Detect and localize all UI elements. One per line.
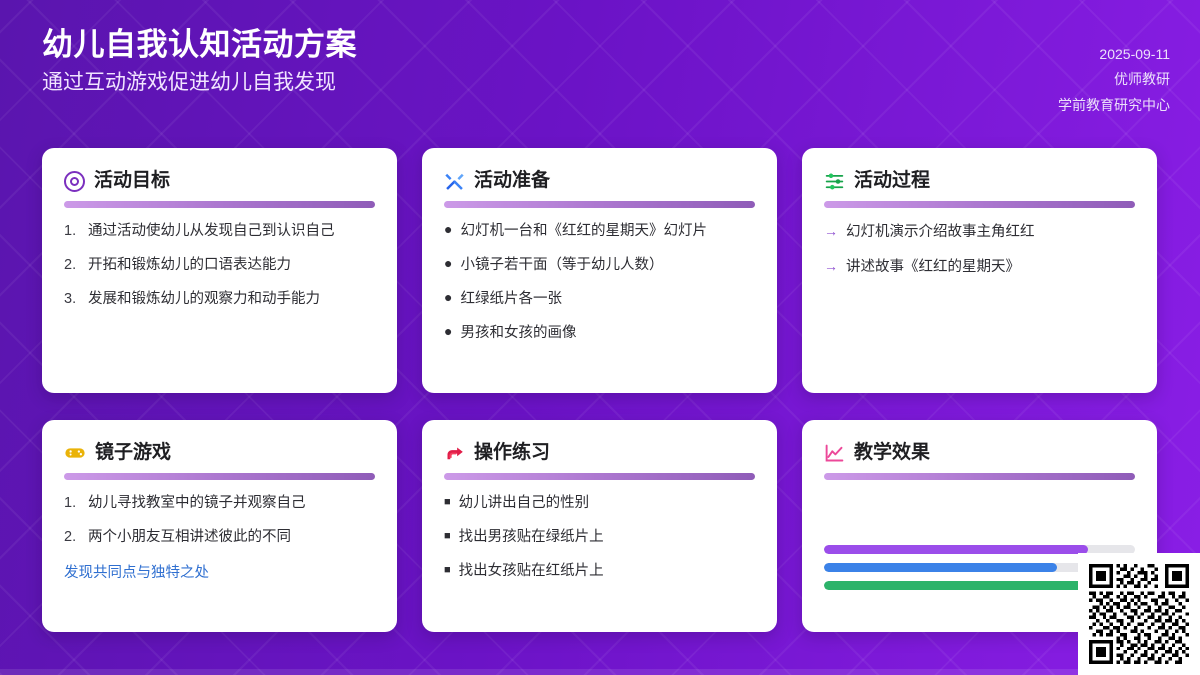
card-title: 教学效果 <box>854 442 930 465</box>
list-item-text: 发展和锻炼幼儿的观察力和动手能力 <box>88 289 375 310</box>
list-marker: ● <box>444 256 452 270</box>
header-meta-block: 2025-09-11 优师教研 学前教育研究中心 <box>1058 26 1170 115</box>
qr-code[interactable] <box>1078 553 1200 675</box>
card-divider <box>444 201 755 208</box>
list-item: 3.发展和锻炼幼儿的观察力和动手能力 <box>64 289 375 310</box>
card-title: 活动准备 <box>474 170 550 193</box>
card-divider <box>824 201 1135 208</box>
pointing-hand-icon <box>444 443 465 464</box>
list-marker: ■ <box>444 531 451 542</box>
list-item-text: 讲述故事《红红的星期天》 <box>846 257 1135 278</box>
card-title: 操作练习 <box>474 442 550 465</box>
card-title: 活动目标 <box>94 170 170 193</box>
list-item-text: 找出女孩贴在红纸片上 <box>459 561 755 582</box>
card-title: 镜子游戏 <box>95 442 171 465</box>
header-date: 2025-09-11 <box>1058 44 1170 64</box>
sliders-icon <box>824 171 845 192</box>
progress-fill <box>824 581 1104 590</box>
card-header: 镜子游戏 <box>64 442 375 465</box>
list-marker-arrow-icon: → <box>824 256 838 276</box>
card-header: 活动过程 <box>824 170 1135 193</box>
list-item-text: 找出男孩贴在绿纸片上 <box>459 527 755 548</box>
process-list: →幻灯机演示介绍故事主角红红 →讲述故事《红红的星期天》 <box>824 221 1135 278</box>
list-item: ■找出男孩贴在绿纸片上 <box>444 527 755 548</box>
tools-icon <box>444 171 465 192</box>
card-activity-process: 活动过程 →幻灯机演示介绍故事主角红红 →讲述故事《红红的星期天》 <box>802 148 1157 393</box>
header-organization: 优师教研 <box>1058 69 1170 89</box>
page-subtitle: 通过互动游戏促进幼儿自我发现 <box>42 69 357 96</box>
list-marker: ■ <box>444 565 451 576</box>
card-divider <box>64 473 375 480</box>
target-icon <box>64 171 85 192</box>
card-activity-preparation: 活动准备 ●幻灯机一台和《红红的星期天》幻灯片 ●小镜子若干面（等于幼儿人数） … <box>422 148 777 393</box>
qr-code-image <box>1089 564 1189 664</box>
list-item: ■幼儿讲出自己的性别 <box>444 493 755 514</box>
mirror-game-link[interactable]: 发现共同点与独特之处 <box>64 561 375 582</box>
list-item: ●红绿纸片各一张 <box>444 289 755 310</box>
card-header: 活动目标 <box>64 170 375 193</box>
preparation-list: ●幻灯机一台和《红红的星期天》幻灯片 ●小镜子若干面（等于幼儿人数） ●红绿纸片… <box>444 221 755 344</box>
list-marker: 2. <box>64 527 80 548</box>
card-divider <box>64 201 375 208</box>
list-item-text: 小镜子若干面（等于幼儿人数） <box>460 255 755 276</box>
list-item: ●小镜子若干面（等于幼儿人数） <box>444 255 755 276</box>
list-marker-arrow-icon: → <box>824 221 838 241</box>
list-marker: ● <box>444 324 452 338</box>
progress-fill <box>824 545 1088 554</box>
list-item: 2.两个小朋友互相讲述彼此的不同 <box>64 527 375 548</box>
list-item-text: 幻灯机演示介绍故事主角红红 <box>846 222 1135 243</box>
card-header: 教学效果 <box>824 442 1135 465</box>
list-marker: 1. <box>64 493 80 514</box>
list-item-text: 红绿纸片各一张 <box>460 289 755 310</box>
list-item: 1.通过活动使幼儿从发现自己到认识自己 <box>64 221 375 242</box>
gamepad-icon <box>64 442 86 464</box>
list-item-text: 幼儿讲出自己的性别 <box>459 493 755 514</box>
header-text-block: 幼儿自我认知活动方案 通过互动游戏促进幼儿自我发现 <box>42 26 357 96</box>
card-title: 活动过程 <box>854 170 930 193</box>
list-item-text: 男孩和女孩的画像 <box>460 323 755 344</box>
list-item-text: 两个小朋友互相讲述彼此的不同 <box>88 527 375 548</box>
page-title: 幼儿自我认知活动方案 <box>42 26 357 65</box>
list-item: →幻灯机演示介绍故事主角红红 <box>824 221 1135 243</box>
card-divider <box>444 473 755 480</box>
card-header: 操作练习 <box>444 442 755 465</box>
list-item: ●幻灯机一台和《红红的星期天》幻灯片 <box>444 221 755 242</box>
list-item-text: 通过活动使幼儿从发现自己到认识自己 <box>88 221 375 242</box>
cards-grid: 活动目标 1.通过活动使幼儿从发现自己到认识自己 2.开拓和锻炼幼儿的口语表达能… <box>42 148 1158 632</box>
card-activity-goals: 活动目标 1.通过活动使幼儿从发现自己到认识自己 2.开拓和锻炼幼儿的口语表达能… <box>42 148 397 393</box>
progress-fill <box>824 563 1057 572</box>
list-marker: ■ <box>444 497 451 508</box>
header-department: 学前教育研究中心 <box>1058 95 1170 115</box>
chart-increasing-icon <box>824 443 845 464</box>
list-item: 2.开拓和锻炼幼儿的口语表达能力 <box>64 255 375 276</box>
list-marker: 1. <box>64 221 80 242</box>
card-divider <box>824 473 1135 480</box>
mirror-game-list: 1.幼儿寻找教室中的镜子并观察自己 2.两个小朋友互相讲述彼此的不同 <box>64 493 375 548</box>
list-item-text: 幼儿寻找教室中的镜子并观察自己 <box>88 493 375 514</box>
list-marker: 2. <box>64 255 80 276</box>
card-mirror-game: 镜子游戏 1.幼儿寻找教室中的镜子并观察自己 2.两个小朋友互相讲述彼此的不同 … <box>42 420 397 632</box>
list-item: ●男孩和女孩的画像 <box>444 323 755 344</box>
list-item-text: 开拓和锻炼幼儿的口语表达能力 <box>88 255 375 276</box>
slide-header: 幼儿自我认知活动方案 通过互动游戏促进幼儿自我发现 2025-09-11 优师教… <box>0 0 1200 130</box>
list-marker: ● <box>444 222 452 236</box>
list-item: →讲述故事《红红的星期天》 <box>824 256 1135 278</box>
list-item: ■找出女孩贴在红纸片上 <box>444 561 755 582</box>
card-header: 活动准备 <box>444 170 755 193</box>
goals-list: 1.通过活动使幼儿从发现自己到认识自己 2.开拓和锻炼幼儿的口语表达能力 3.发… <box>64 221 375 310</box>
list-item-text: 幻灯机一台和《红红的星期天》幻灯片 <box>460 221 755 242</box>
list-item: 1.幼儿寻找教室中的镜子并观察自己 <box>64 493 375 514</box>
list-marker: 3. <box>64 289 80 310</box>
practice-list: ■幼儿讲出自己的性别 ■找出男孩贴在绿纸片上 ■找出女孩贴在红纸片上 <box>444 493 755 582</box>
card-hands-on-practice: 操作练习 ■幼儿讲出自己的性别 ■找出男孩贴在绿纸片上 ■找出女孩贴在红纸片上 <box>422 420 777 632</box>
list-marker: ● <box>444 290 452 304</box>
